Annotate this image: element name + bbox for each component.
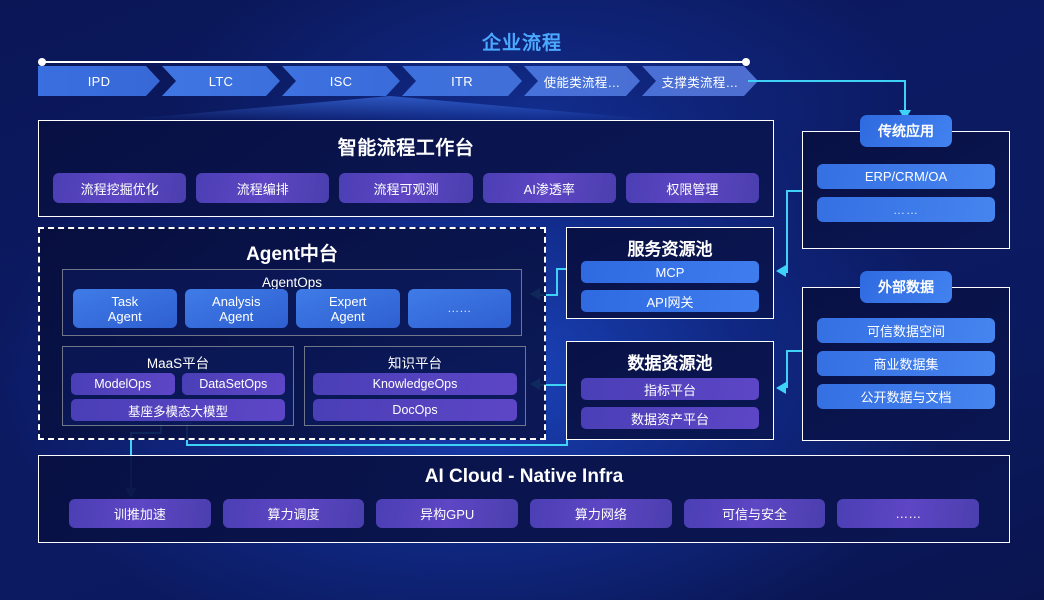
process-stage-label: ITR — [451, 74, 473, 89]
legacy-pill-erp-crm-oa[interactable]: ERP/CRM/OA — [817, 164, 995, 189]
agent-card-line2: Agent — [108, 309, 142, 324]
legacy-application-badge: 传统应用 — [860, 115, 952, 147]
knowledge-platform-subpanel: 知识平台 KnowledgeOps DocOps — [304, 346, 526, 426]
connector-flow-to-legacy-v — [904, 80, 906, 112]
process-stage-label: 使能类流程… — [544, 72, 621, 91]
process-stage-enabling[interactable]: 使能类流程… — [524, 66, 640, 96]
service-pool-pill-list: MCP API网关 — [581, 261, 759, 319]
workbench-pill-process-mining[interactable]: 流程挖掘优化 — [53, 173, 186, 203]
agent-card-more[interactable]: …… — [408, 289, 512, 328]
process-stage-label: 支撑类流程… — [662, 72, 739, 91]
enterprise-flow-title: 企业流程 — [0, 28, 1044, 55]
workbench-pill-process-orchestration[interactable]: 流程编排 — [196, 173, 329, 203]
data-pool-pill-metrics-platform[interactable]: 指标平台 — [581, 378, 759, 400]
external-data-panel: 外部数据 可信数据空间 商业数据集 公开数据与文档 — [802, 287, 1010, 441]
external-pill-commercial-dataset[interactable]: 商业数据集 — [817, 351, 995, 376]
flow-rail-line — [42, 61, 746, 63]
intelligent-process-workbench-panel: 智能流程工作台 流程挖掘优化 流程编排 流程可观测 AI渗透率 权限管理 — [38, 120, 774, 217]
service-pool-pill-api-gateway[interactable]: API网关 — [581, 290, 759, 312]
process-stage-supporting[interactable]: 支撑类流程… — [642, 66, 758, 96]
external-pill-trusted-data-space[interactable]: 可信数据空间 — [817, 318, 995, 343]
maas-pill-modelops[interactable]: ModelOps — [71, 373, 175, 395]
external-data-pill-list: 可信数据空间 商业数据集 公开数据与文档 — [817, 318, 995, 417]
agent-card-line1: Expert — [329, 294, 367, 309]
maas-platform-subpanel: MaaS平台 ModelOps DataSetOps 基座多模态大模型 — [62, 346, 294, 426]
infra-pill-training-inference-acceleration[interactable]: 训推加速 — [69, 499, 211, 528]
arrow-external-to-data — [776, 382, 786, 394]
agent-card-expert[interactable]: Expert Agent — [296, 289, 400, 328]
maas-pill-datasetops[interactable]: DataSetOps — [182, 373, 286, 395]
connector-legacy-to-service-v — [786, 190, 788, 272]
agent-card-task[interactable]: Task Agent — [73, 289, 177, 328]
process-stage-label: IPD — [88, 74, 111, 89]
infra-title: AI Cloud - Native Infra — [39, 466, 1009, 488]
maas-title: MaaS平台 — [63, 352, 293, 372]
service-resource-pool-panel: 服务资源池 MCP API网关 — [566, 227, 774, 319]
service-pool-pill-mcp[interactable]: MCP — [581, 261, 759, 283]
workbench-title: 智能流程工作台 — [39, 133, 773, 160]
connector-data-to-infra-h — [186, 444, 568, 446]
process-stage-label: LTC — [209, 74, 234, 89]
workbench-pill-permission-management[interactable]: 权限管理 — [626, 173, 759, 203]
agent-card-analysis[interactable]: Analysis Agent — [185, 289, 289, 328]
knowledge-row-1: KnowledgeOps — [313, 373, 517, 395]
external-pill-public-data-docs[interactable]: 公开数据与文档 — [817, 384, 995, 409]
agentops-subpanel: AgentOps Task Agent Analysis Agent Exper… — [62, 269, 522, 336]
flow-rail-dot-left — [38, 58, 46, 66]
legacy-application-pill-list: ERP/CRM/OA …… — [817, 164, 995, 230]
knowledge-pill-knowledgeops[interactable]: KnowledgeOps — [313, 373, 517, 395]
infra-pill-compute-scheduling[interactable]: 算力调度 — [223, 499, 365, 528]
infra-pill-heterogeneous-gpu[interactable]: 异构GPU — [376, 499, 518, 528]
knowledge-title: 知识平台 — [305, 352, 525, 372]
process-stage-list: IPD LTC ISC ITR 使能类流程… 支撑类流程… — [38, 66, 760, 96]
flow-rail-dot-right — [742, 58, 750, 66]
infra-pill-list: 训推加速 算力调度 异构GPU 算力网络 可信与安全 …… — [69, 499, 979, 528]
service-pool-title: 服务资源池 — [567, 235, 773, 260]
workbench-pill-list: 流程挖掘优化 流程编排 流程可观测 AI渗透率 权限管理 — [53, 173, 759, 203]
ai-cloud-native-infra-panel: AI Cloud - Native Infra 训推加速 算力调度 异构GPU … — [38, 455, 1010, 543]
flow-rail — [38, 58, 750, 66]
infra-pill-more[interactable]: …… — [837, 499, 979, 528]
agent-card-line2: Agent — [219, 309, 253, 324]
knowledge-pill-docops[interactable]: DocOps — [313, 399, 517, 421]
external-data-badge: 外部数据 — [860, 271, 952, 303]
agent-card-line1: …… — [447, 301, 471, 316]
agent-card-line1: Analysis — [212, 294, 260, 309]
process-stage-isc[interactable]: ISC — [282, 66, 400, 96]
process-stage-ltc[interactable]: LTC — [162, 66, 280, 96]
process-stage-label: ISC — [330, 74, 353, 89]
chevron-glow — [120, 96, 660, 120]
data-resource-pool-panel: 数据资源池 指标平台 数据资产平台 — [566, 341, 774, 440]
arrow-legacy-to-service — [776, 265, 786, 277]
workbench-pill-ai-penetration[interactable]: AI渗透率 — [483, 173, 616, 203]
infra-pill-trust-security[interactable]: 可信与安全 — [684, 499, 826, 528]
data-pool-pill-data-asset-platform[interactable]: 数据资产平台 — [581, 407, 759, 429]
agent-card-line1: Task — [111, 294, 138, 309]
connector-external-to-data-v — [786, 350, 788, 388]
data-pool-pill-list: 指标平台 数据资产平台 — [581, 378, 759, 436]
connector-service-to-agent-v — [556, 268, 558, 294]
maas-row-1: ModelOps DataSetOps — [71, 373, 285, 395]
agentops-card-list: Task Agent Analysis Agent Expert Agent …… — [73, 289, 511, 328]
process-stage-itr[interactable]: ITR — [402, 66, 522, 96]
knowledge-row-2: DocOps — [313, 399, 517, 421]
agent-card-line2: Agent — [331, 309, 365, 324]
agentops-title: AgentOps — [63, 275, 521, 290]
legacy-pill-more[interactable]: …… — [817, 197, 995, 222]
workbench-pill-process-observability[interactable]: 流程可观测 — [339, 173, 472, 203]
maas-row-2: 基座多模态大模型 — [71, 399, 285, 421]
process-stage-ipd[interactable]: IPD — [38, 66, 160, 96]
connector-flow-to-legacy-h — [748, 80, 906, 82]
data-pool-title: 数据资源池 — [567, 349, 773, 374]
maas-pill-foundation-model[interactable]: 基座多模态大模型 — [71, 399, 285, 421]
agent-hub-title: Agent中台 — [40, 239, 544, 266]
legacy-application-panel: 传统应用 ERP/CRM/OA …… — [802, 131, 1010, 249]
infra-pill-compute-network[interactable]: 算力网络 — [530, 499, 672, 528]
agent-hub-panel: Agent中台 AgentOps Task Agent Analysis Age… — [38, 227, 546, 440]
